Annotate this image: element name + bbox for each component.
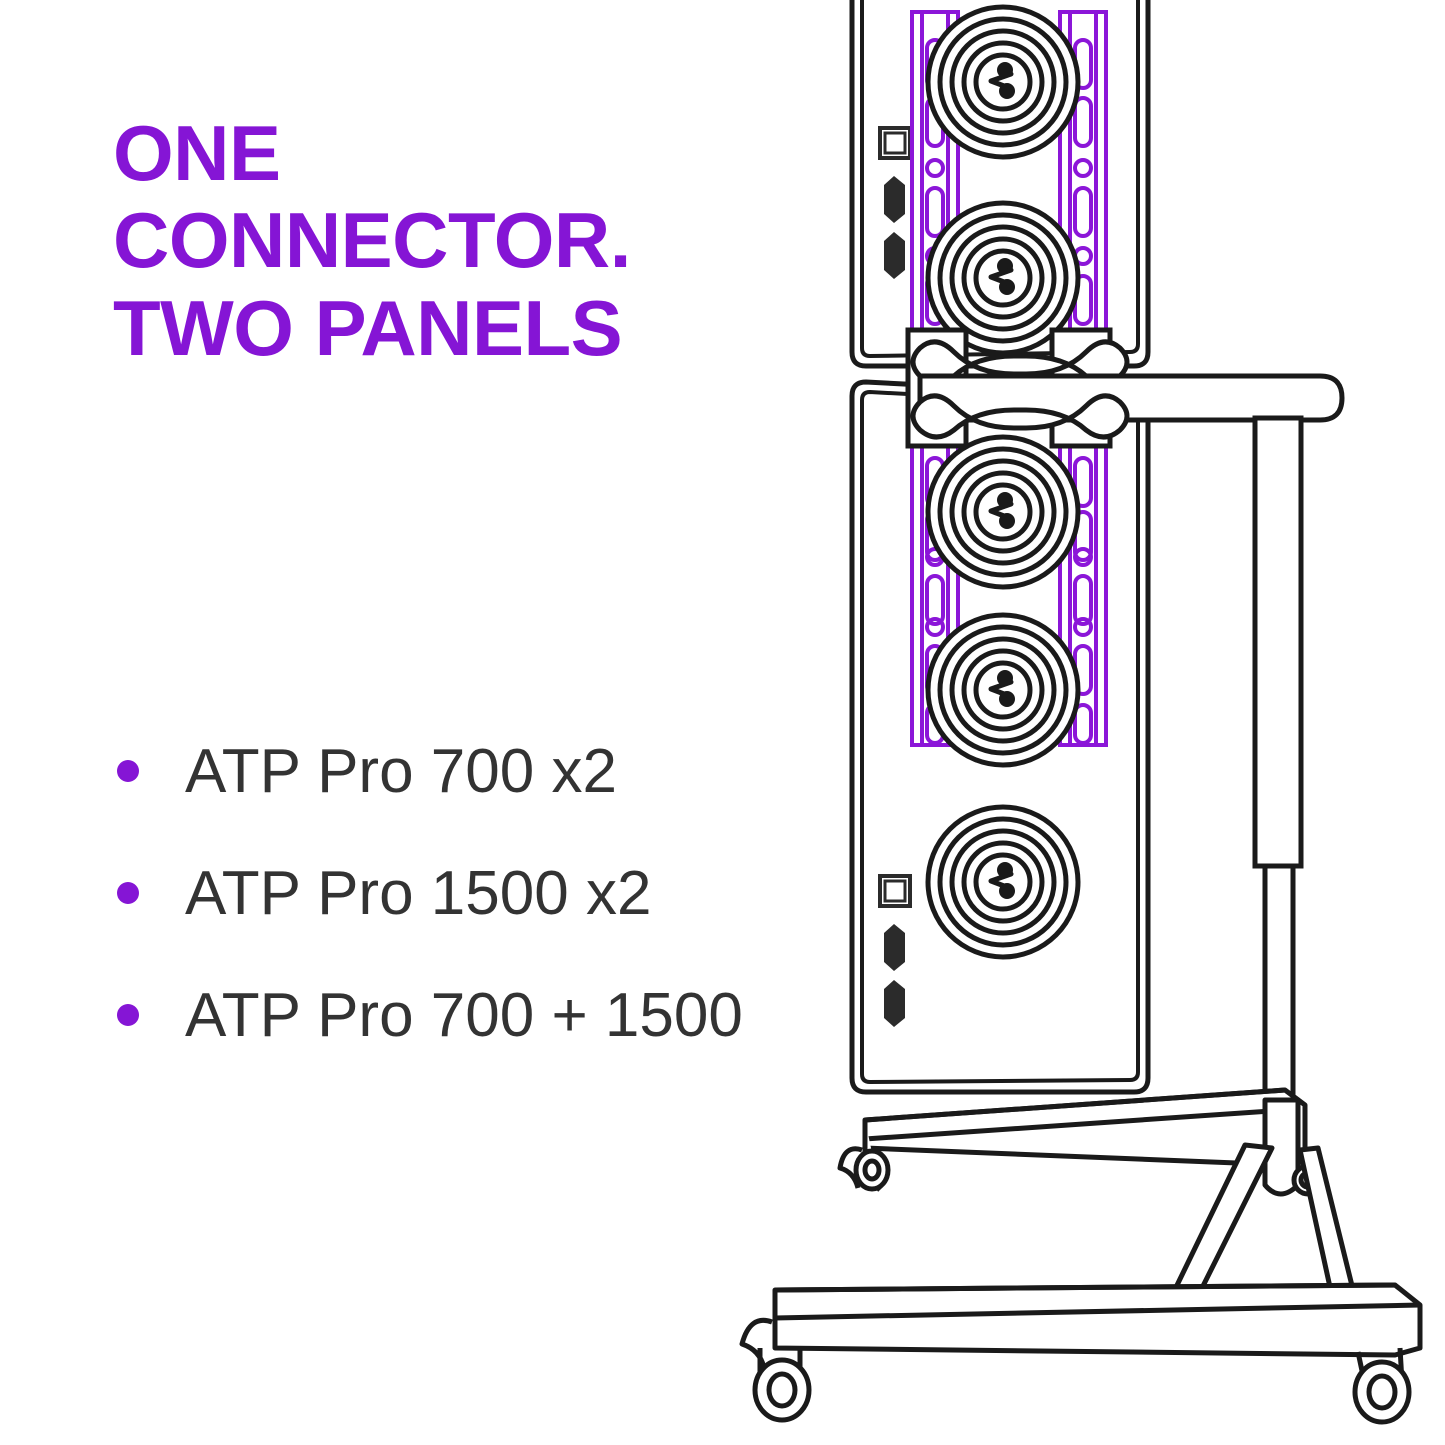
list-item: ATP Pro 1500 x2 (113, 832, 913, 954)
bullet-icon (117, 882, 139, 904)
speaker-driver (928, 203, 1078, 353)
stand-base-bar (742, 1285, 1420, 1368)
rail-right-upper (1060, 12, 1106, 338)
feature-list: ATP Pro 700 x2 ATP Pro 1500 x2 ATP Pro 7… (113, 710, 913, 1076)
list-item-label: ATP Pro 700 x2 (185, 736, 617, 807)
text-column: ONE CONNECTOR. TWO PANELS ATP Pro 700 x2… (113, 110, 873, 372)
stand-caster (1355, 1348, 1409, 1422)
stand-pole-upper (1255, 380, 1301, 865)
stand-pole-lower (1265, 860, 1293, 1110)
list-item-label: ATP Pro 1500 x2 (185, 858, 651, 929)
speaker-driver (928, 807, 1078, 957)
stand-caster-rear (856, 1151, 888, 1189)
bullet-icon (117, 760, 139, 782)
rail-right-lower (1060, 440, 1106, 745)
list-item: ATP Pro 700 x2 (113, 710, 913, 832)
stand-pole-collar (1265, 1100, 1322, 1194)
upper-panel (852, 0, 1148, 366)
speaker-driver (928, 615, 1078, 765)
stand-caster (755, 1348, 809, 1420)
stand-diagonal-leg (1165, 1145, 1358, 1312)
list-item: ATP Pro 700 + 1500 (113, 954, 913, 1076)
bullet-icon (117, 1004, 139, 1026)
upper-panel-ports (880, 128, 910, 279)
headline-line-1: ONE (113, 110, 873, 197)
headline-line-2: CONNECTOR. (113, 197, 873, 284)
speaker-driver (928, 7, 1078, 157)
headline-line-3: TWO PANELS (113, 285, 873, 372)
page-title: ONE CONNECTOR. TWO PANELS (113, 110, 873, 372)
stand-pole-front (1255, 418, 1301, 866)
stand-upper-crossbar (840, 1090, 1305, 1190)
list-item-label: ATP Pro 700 + 1500 (185, 980, 743, 1051)
poster-canvas: ONE CONNECTOR. TWO PANELS ATP Pro 700 x2… (0, 0, 1445, 1445)
rail-left-lower (912, 440, 958, 745)
speaker-driver (928, 437, 1078, 587)
rail-left-upper (912, 12, 958, 338)
panel-connector-bracket (908, 330, 1342, 446)
